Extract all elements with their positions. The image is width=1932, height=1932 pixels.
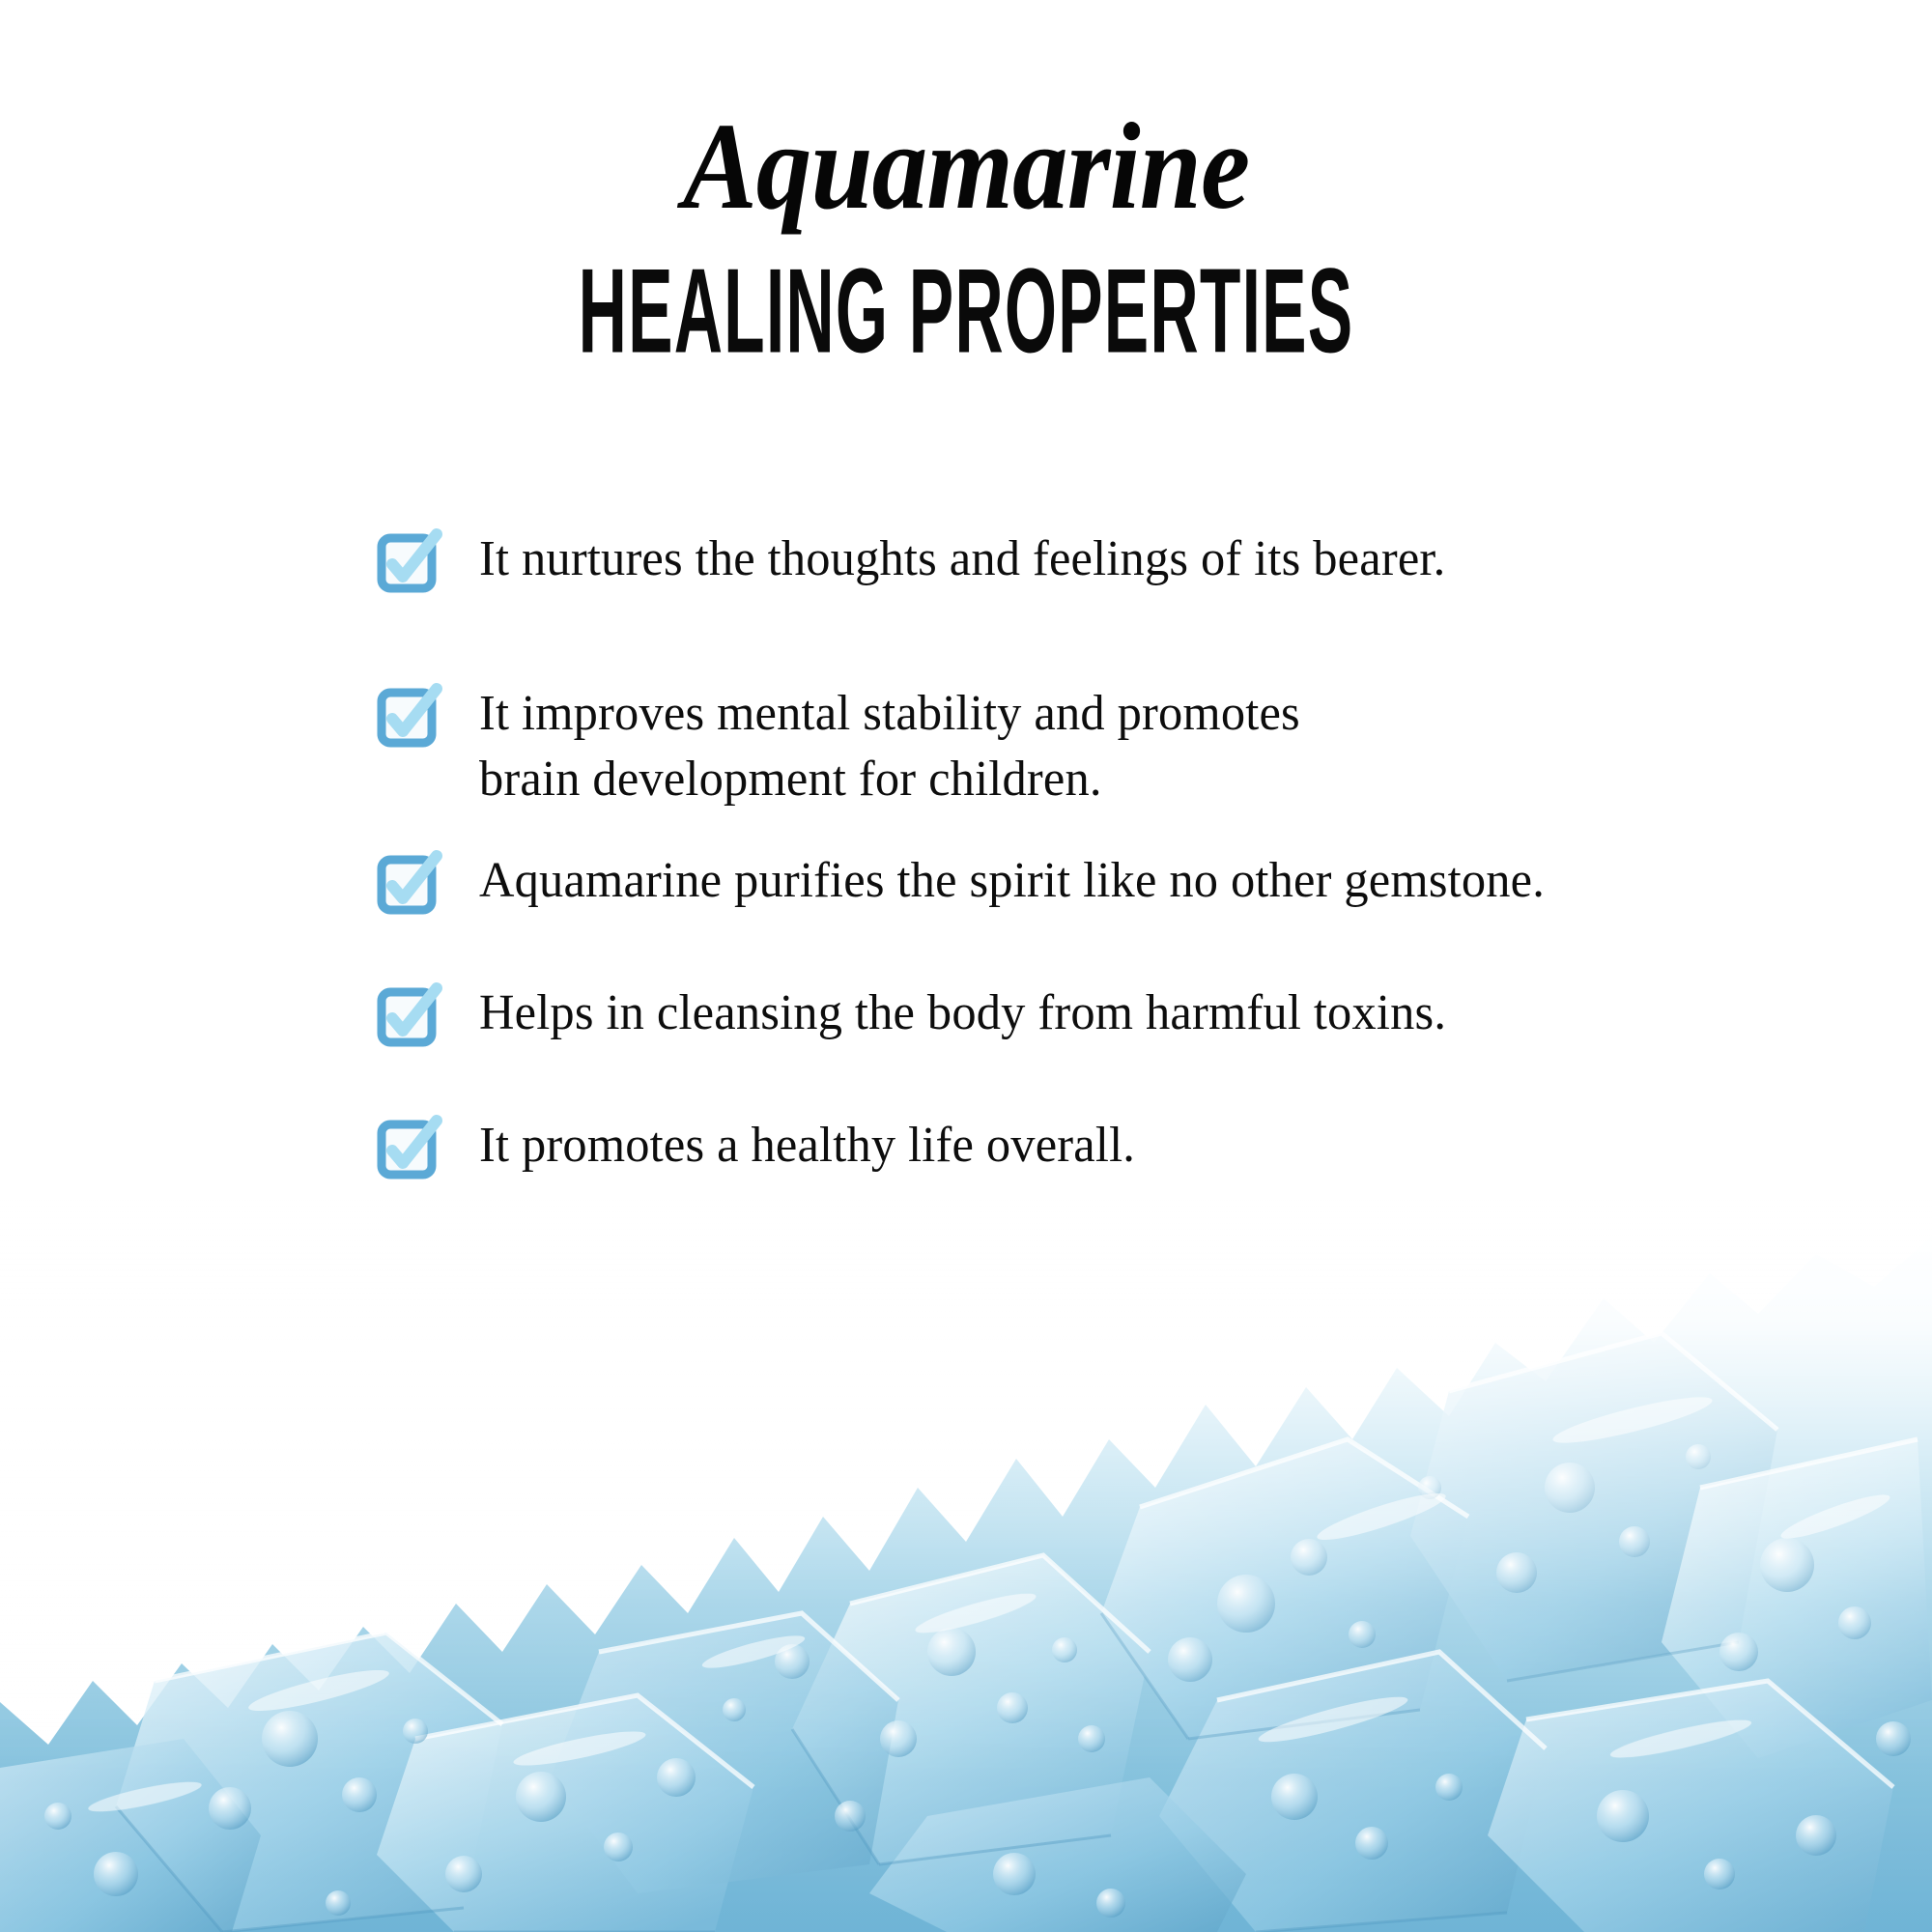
list-item-label: It improves mental stability and promote… — [479, 681, 1300, 811]
checked-checkbox-icon — [379, 687, 439, 747]
list-item: It improves mental stability and promote… — [379, 681, 1325, 811]
page-subtitle: HEALING PROPERTIES — [386, 228, 1546, 371]
checked-checkbox-icon — [379, 986, 439, 1046]
checked-checkbox-icon — [379, 854, 439, 914]
checked-checkbox-icon — [379, 532, 439, 592]
header: Aquamarine HEALING PROPERTIES — [0, 0, 1932, 361]
list-item-label: It promotes a healthy life overall. — [479, 1113, 1135, 1179]
list-item-label: Helps in cleansing the body from harmful… — [479, 980, 1446, 1046]
list-item-label: Aquamarine purifies the spirit like no o… — [479, 848, 1545, 914]
list-item: Aquamarine purifies the spirit like no o… — [379, 848, 1577, 914]
poster-canvas: Aquamarine HEALING PROPERTIES It nurture… — [0, 0, 1932, 1932]
page-title: Aquamarine — [97, 0, 1835, 228]
list-item: It nurtures the thoughts and feelings of… — [379, 526, 1475, 592]
list-item-label: It nurtures the thoughts and feelings of… — [479, 526, 1445, 592]
ice-cubes-photo — [0, 1198, 1932, 1932]
checked-checkbox-icon — [379, 1119, 439, 1179]
list-item: It promotes a healthy life overall. — [379, 1113, 1155, 1179]
list-item: Helps in cleansing the body from harmful… — [379, 980, 1476, 1046]
